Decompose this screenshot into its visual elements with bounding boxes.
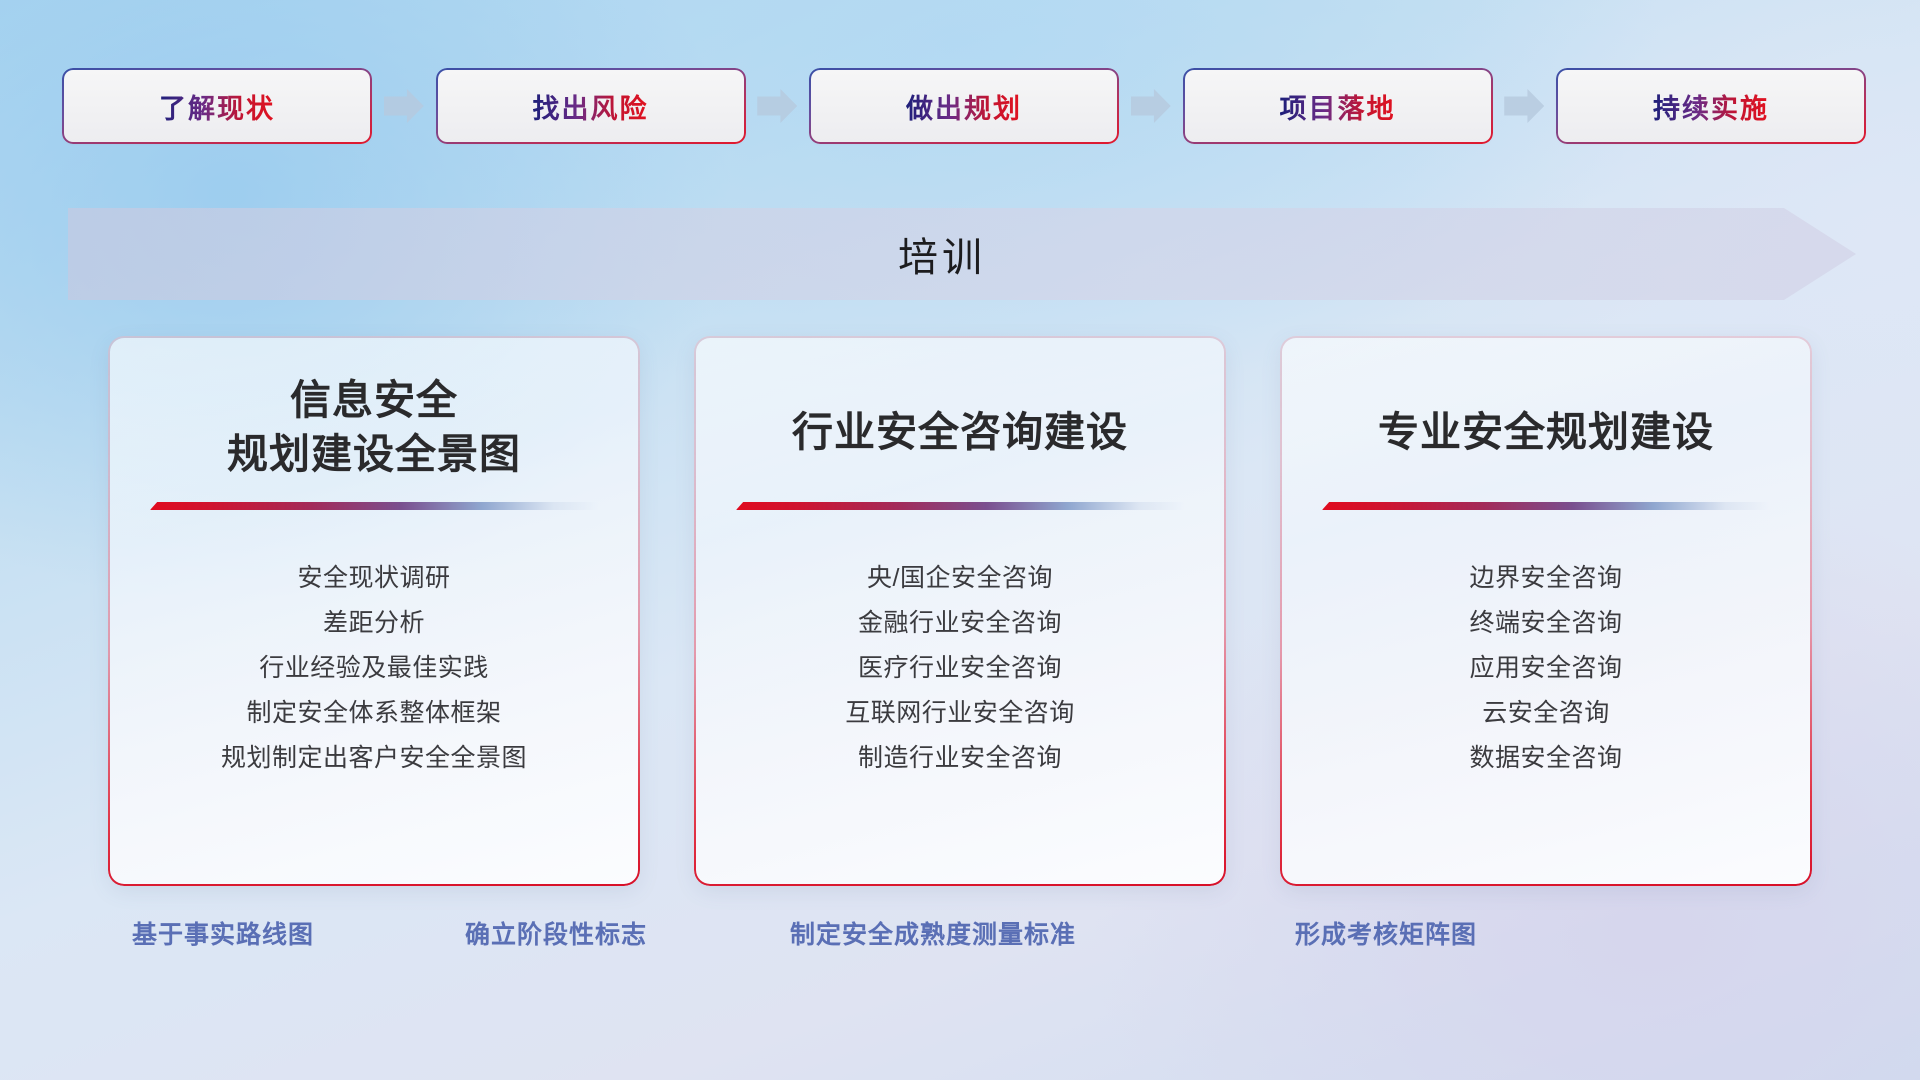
card-2-accent-rule bbox=[736, 502, 1184, 510]
step-box-1[interactable]: 了解现状 bbox=[64, 70, 370, 142]
footer-label-1: 基于事实路线图 bbox=[132, 915, 314, 951]
slide-canvas: 了解现状 找出风险 做出规划 项目落地 持续实施 培训 信息安全 规划建设全景图 bbox=[0, 0, 1920, 1080]
footer-label-row: 基于事实路线图 确立阶段性标志 制定安全成熟度测量标准 形成考核矩阵图 bbox=[0, 915, 1920, 959]
card-2[interactable]: 行业安全咨询建设 央/国企安全咨询 金融行业安全咨询 医疗行业安全咨询 互联网行… bbox=[696, 338, 1224, 884]
list-item: 云安全咨询 bbox=[1308, 691, 1784, 736]
card-1-list: 安全现状调研 差距分析 行业经验及最佳实践 制定安全体系整体框架 规划制定出客户… bbox=[136, 556, 612, 781]
step-label-5: 持续实施 bbox=[1653, 87, 1769, 126]
step-label-4: 项目落地 bbox=[1280, 87, 1396, 126]
card-3-accent-rule bbox=[1322, 502, 1770, 510]
footer-label-3: 制定安全成熟度测量标准 bbox=[790, 915, 1076, 951]
card-1[interactable]: 信息安全 规划建设全景图 安全现状调研 差距分析 行业经验及最佳实践 制定安全体… bbox=[110, 338, 638, 884]
step-label-2: 找出风险 bbox=[533, 87, 649, 126]
list-item: 医疗行业安全咨询 bbox=[722, 646, 1198, 691]
list-item: 边界安全咨询 bbox=[1308, 556, 1784, 601]
list-item: 互联网行业安全咨询 bbox=[722, 691, 1198, 736]
training-banner: 培训 bbox=[68, 208, 1856, 300]
card-2-title: 行业安全咨询建设 bbox=[722, 338, 1198, 488]
list-item: 安全现状调研 bbox=[136, 556, 612, 601]
list-item: 制造行业安全咨询 bbox=[722, 736, 1198, 781]
list-item: 应用安全咨询 bbox=[1308, 646, 1784, 691]
step-arrow-icon-2 bbox=[757, 89, 797, 123]
step-arrow-icon-3 bbox=[1131, 89, 1171, 123]
list-item: 数据安全咨询 bbox=[1308, 736, 1784, 781]
card-2-title-line1: 行业安全咨询建设 bbox=[722, 405, 1198, 459]
step-label-1: 了解现状 bbox=[159, 87, 275, 126]
card-3[interactable]: 专业安全规划建设 边界安全咨询 终端安全咨询 应用安全咨询 云安全咨询 数据安全… bbox=[1282, 338, 1810, 884]
card-1-accent-rule bbox=[150, 502, 598, 510]
footer-label-4: 形成考核矩阵图 bbox=[1295, 915, 1477, 951]
process-step-row: 了解现状 找出风险 做出规划 项目落地 持续实施 bbox=[64, 70, 1864, 142]
card-group: 信息安全 规划建设全景图 安全现状调研 差距分析 行业经验及最佳实践 制定安全体… bbox=[110, 338, 1810, 884]
step-arrow-icon-4 bbox=[1504, 89, 1544, 123]
footer-label-2: 确立阶段性标志 bbox=[465, 915, 647, 951]
card-2-list: 央/国企安全咨询 金融行业安全咨询 医疗行业安全咨询 互联网行业安全咨询 制造行… bbox=[722, 556, 1198, 781]
card-3-title-line1: 专业安全规划建设 bbox=[1308, 405, 1784, 459]
step-box-3[interactable]: 做出规划 bbox=[811, 70, 1117, 142]
list-item: 终端安全咨询 bbox=[1308, 601, 1784, 646]
card-1-title: 信息安全 规划建设全景图 bbox=[136, 338, 612, 488]
step-box-5[interactable]: 持续实施 bbox=[1558, 70, 1864, 142]
training-banner-title: 培训 bbox=[898, 225, 986, 283]
list-item: 规划制定出客户安全全景图 bbox=[136, 736, 612, 781]
step-box-4[interactable]: 项目落地 bbox=[1185, 70, 1491, 142]
card-3-title: 专业安全规划建设 bbox=[1308, 338, 1784, 488]
card-1-title-line2: 规划建设全景图 bbox=[136, 427, 612, 481]
step-label-3: 做出规划 bbox=[906, 87, 1022, 126]
list-item: 金融行业安全咨询 bbox=[722, 601, 1198, 646]
step-box-2[interactable]: 找出风险 bbox=[438, 70, 744, 142]
list-item: 差距分析 bbox=[136, 601, 612, 646]
card-1-title-line1: 信息安全 bbox=[136, 373, 612, 427]
list-item: 制定安全体系整体框架 bbox=[136, 691, 612, 736]
list-item: 央/国企安全咨询 bbox=[722, 556, 1198, 601]
list-item: 行业经验及最佳实践 bbox=[136, 646, 612, 691]
card-3-list: 边界安全咨询 终端安全咨询 应用安全咨询 云安全咨询 数据安全咨询 bbox=[1308, 556, 1784, 781]
step-arrow-icon-1 bbox=[384, 89, 424, 123]
